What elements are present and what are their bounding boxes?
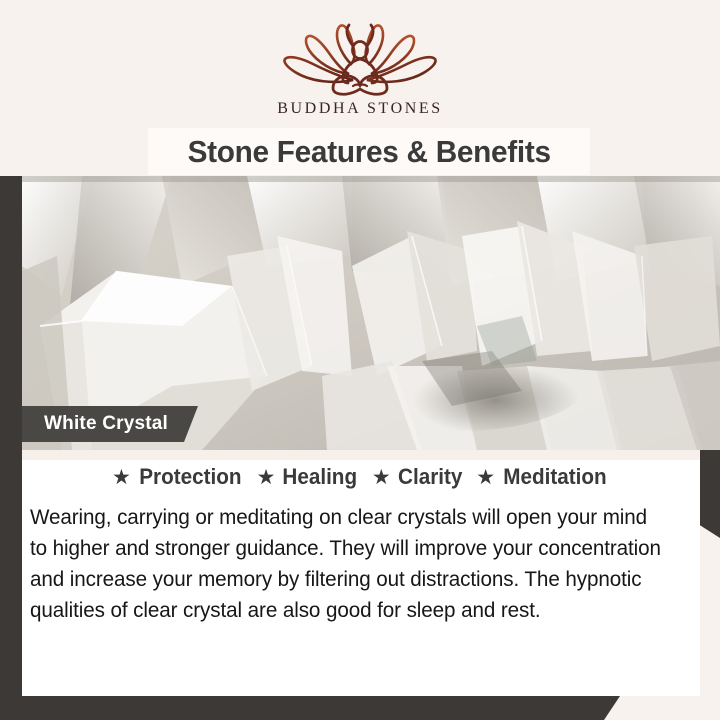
brand-logo: BUDDHA STONES [250, 22, 470, 118]
frame-bar-left [0, 176, 22, 720]
panel-top-strip [22, 450, 700, 460]
stone-info-card: BUDDHA STONES Stone Features & Benefits [0, 0, 720, 720]
benefit-item-clarity: ★ Clarity [372, 464, 464, 490]
benefit-label: Meditation [503, 464, 606, 490]
star-icon: ★ [476, 467, 495, 488]
brand-wordmark: BUDDHA STONES [250, 100, 470, 118]
stone-name-tag: White Crystal [22, 406, 198, 442]
page-title: Stone Features & Benefits [187, 134, 550, 170]
frame-bar-bottom [0, 696, 620, 720]
star-icon: ★ [372, 467, 391, 488]
title-banner: Stone Features & Benefits [148, 128, 590, 175]
benefit-label: Protection [139, 464, 241, 490]
benefit-item-protection: ★ Protection [112, 464, 245, 490]
stone-description: Wearing, carrying or meditating on clear… [30, 502, 664, 626]
benefit-item-meditation: ★ Meditation [476, 464, 610, 490]
benefit-label: Clarity [398, 464, 462, 490]
content-panel: ★ Protection ★ Healing ★ Clarity ★ Medit… [22, 450, 700, 696]
star-icon: ★ [257, 467, 276, 488]
lotus-meditation-icon [275, 22, 445, 98]
star-icon: ★ [112, 467, 131, 488]
benefit-item-healing: ★ Healing [257, 464, 360, 490]
benefit-label: Healing [283, 464, 358, 490]
stone-name-label: White Crystal [44, 413, 168, 435]
benefits-list: ★ Protection ★ Healing ★ Clarity ★ Medit… [22, 464, 700, 490]
